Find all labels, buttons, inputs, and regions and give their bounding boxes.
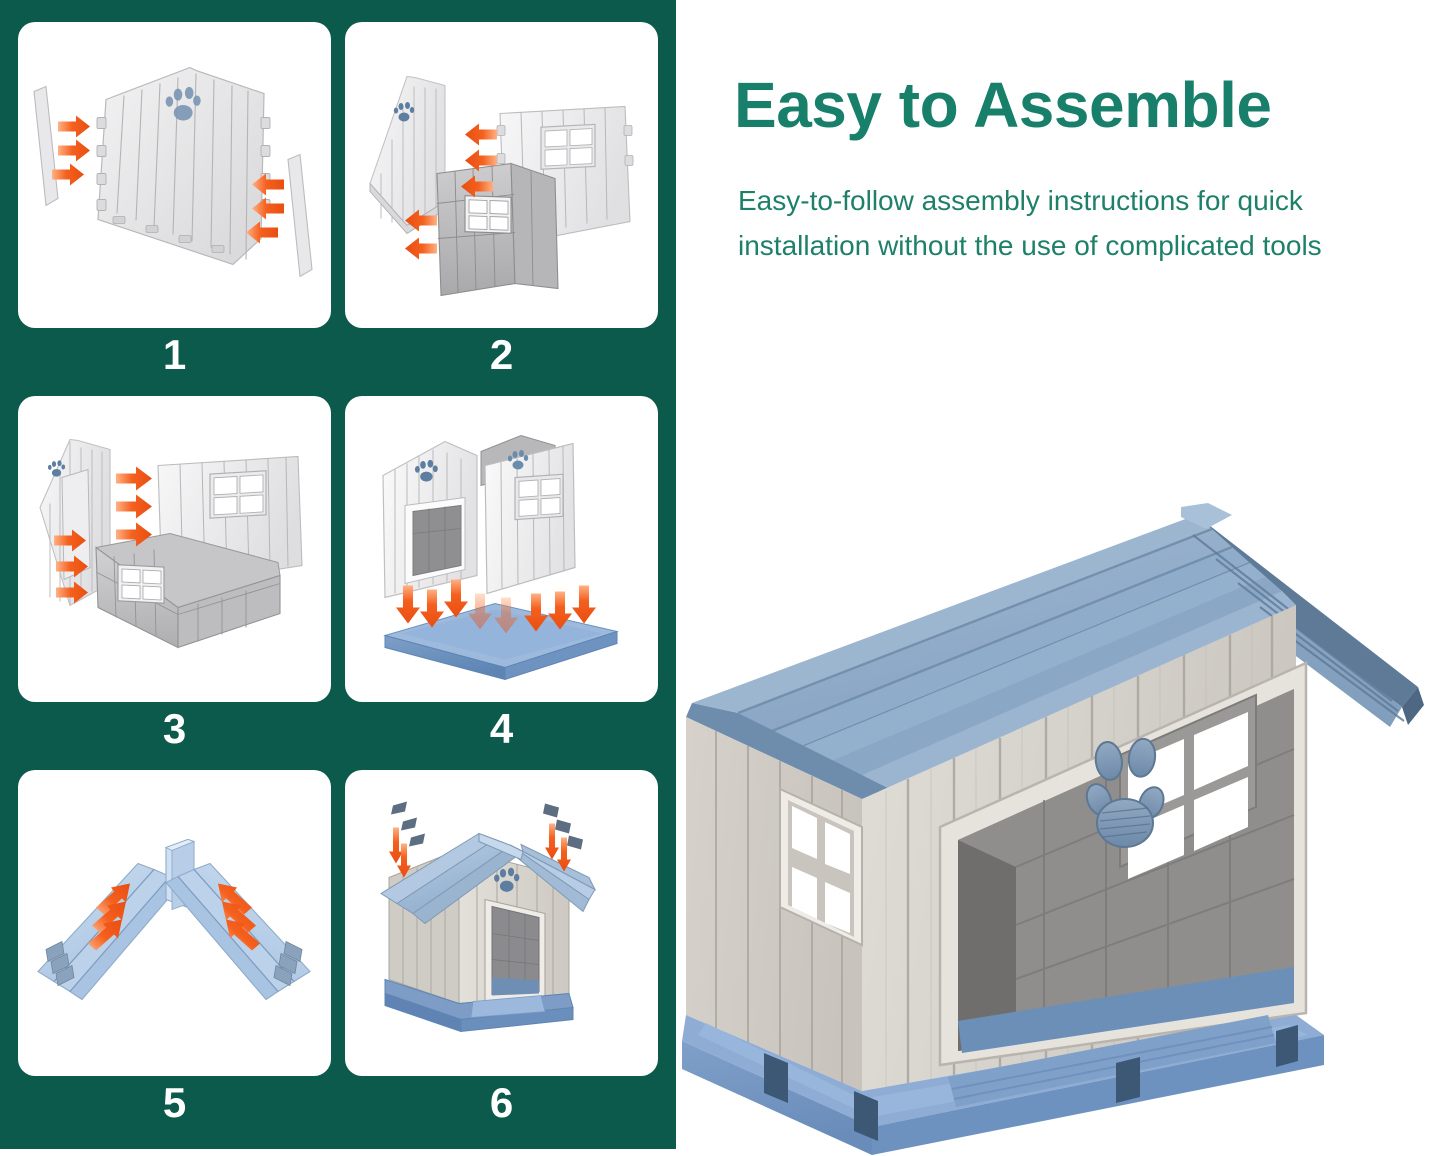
step-cell-6: 6: [345, 770, 658, 1130]
step-cell-1: 1: [18, 22, 331, 382]
step-4-illustration: [345, 396, 658, 702]
step-number-2: 2: [345, 328, 658, 382]
step-number-6: 6: [345, 1076, 658, 1130]
right-content-panel: Easy to Assemble Easy-to-follow assembly…: [676, 0, 1445, 1156]
infographic-page: 1: [0, 0, 1445, 1156]
assembly-steps-panel: 1: [0, 0, 676, 1149]
step-2-illustration: [345, 22, 658, 328]
step-cell-4: 4: [345, 396, 658, 756]
step-number-1: 1: [18, 328, 331, 382]
step-card-2: [345, 22, 658, 328]
steps-grid: 1: [18, 22, 658, 1130]
step-card-4: [345, 396, 658, 702]
step-card-1: [18, 22, 331, 328]
step-number-3: 3: [18, 702, 331, 756]
step-card-6: [345, 770, 658, 1076]
subtitle-text: Easy-to-follow assembly instructions for…: [738, 178, 1418, 269]
step-number-4: 4: [345, 702, 658, 756]
page-title: Easy to Assemble: [734, 71, 1424, 140]
step-6-illustration: [345, 770, 658, 1076]
step-card-5: [18, 770, 331, 1076]
step-card-3: [18, 396, 331, 702]
hero-product-image: [676, 455, 1445, 1155]
step-cell-2: 2: [345, 22, 658, 382]
step-5-illustration: [18, 770, 331, 1076]
step-1-illustration: [18, 22, 331, 328]
step-number-5: 5: [18, 1076, 331, 1130]
step-cell-3: 3: [18, 396, 331, 756]
step-cell-5: 5: [18, 770, 331, 1130]
step-3-illustration: [18, 396, 331, 702]
